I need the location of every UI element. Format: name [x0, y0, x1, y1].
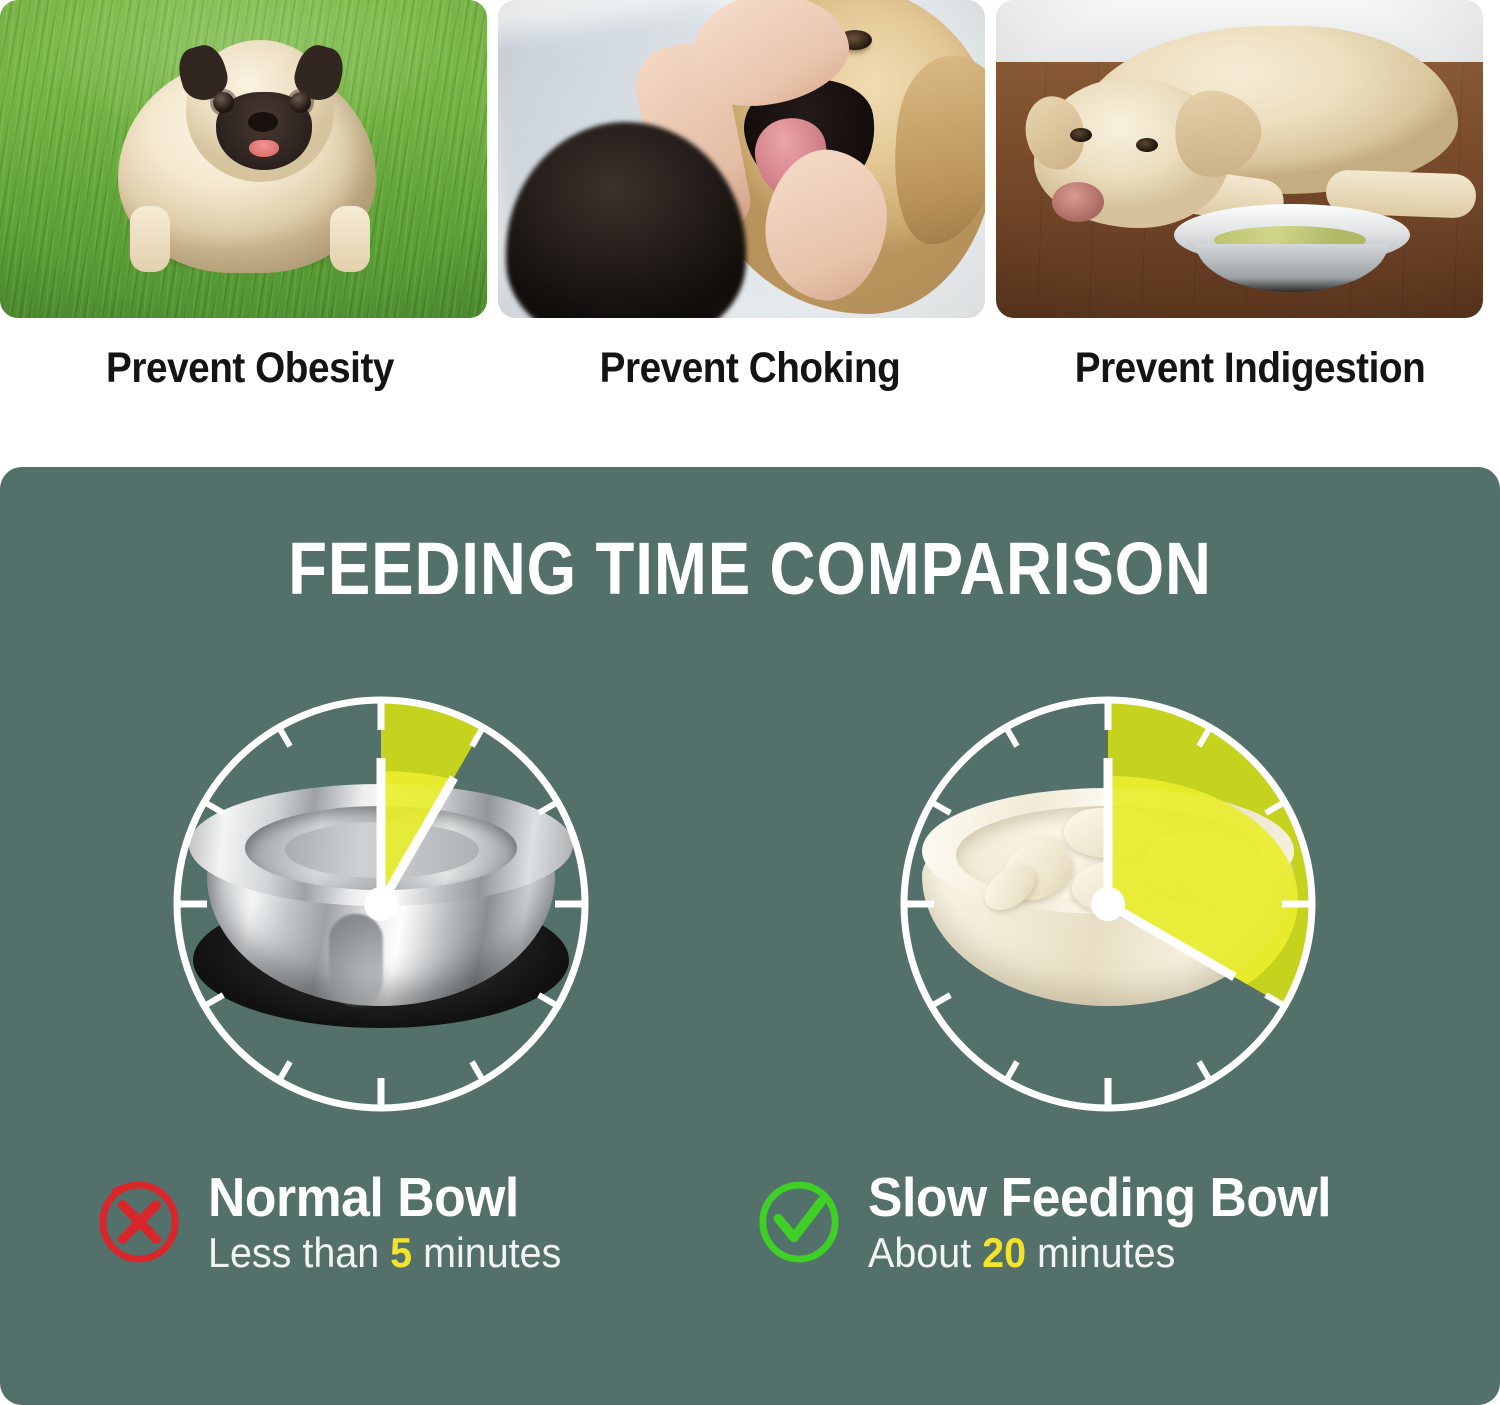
result-normal-subtitle: Less than 5 minutes [208, 1232, 561, 1275]
caption-prevent-obesity: Prevent Obesity [25, 344, 475, 424]
clock-center-hub [1091, 887, 1125, 921]
photo-card-prevent-indigestion [996, 0, 1483, 318]
clock-dial-normal-bowl [161, 692, 601, 1132]
steel-food-bowl-photo [1174, 204, 1410, 296]
clock-face-normal [161, 692, 601, 1132]
pug-tongue [249, 140, 279, 157]
clock-hand-elapsed [1108, 904, 1234, 977]
pug-nose [248, 112, 278, 132]
bowl-base [1196, 244, 1388, 292]
result-slow-subtitle: About 20 minutes [868, 1232, 1331, 1275]
photo-card-prevent-choking [498, 0, 985, 318]
photo-overweight-pug-on-grass [0, 0, 487, 318]
check-circle-icon [756, 1179, 842, 1265]
labrador-eye-left [1070, 128, 1092, 142]
result-slow-sub-prefix: About [868, 1229, 982, 1276]
result-normal-sub-prefix: Less than [208, 1229, 390, 1276]
pug-front-leg-left [130, 206, 170, 272]
feeding-time-comparison-panel: FEEDING TIME COMPARISON [0, 467, 1500, 1405]
caption-prevent-choking: Prevent Choking [525, 344, 975, 424]
photo-retriever-mouth-checked [498, 0, 985, 318]
result-slow-title: Slow Feeding Bowl [868, 1169, 1331, 1225]
photo-card-prevent-obesity [0, 0, 487, 318]
result-normal-bowl: Normal Bowl Less than 5 minutes [96, 1169, 584, 1275]
pug-front-leg-right [330, 206, 370, 272]
clock-face-slow [888, 692, 1328, 1132]
result-slow-feeding-bowl: Slow Feeding Bowl About 20 minutes [756, 1169, 1361, 1275]
clock-dial-slow-feeding-bowl [888, 692, 1328, 1132]
clock-center-hub [364, 887, 398, 921]
result-normal-sub-suffix: minutes [412, 1229, 561, 1276]
benefit-caption-row: Prevent Obesity Prevent Choking Prevent … [0, 344, 1500, 424]
pug-eye-right [290, 92, 311, 113]
result-normal-title: Normal Bowl [208, 1169, 561, 1225]
labrador-nose [1052, 182, 1104, 222]
result-slow-sub-value: 20 [982, 1229, 1026, 1276]
labrador-eye-right [1136, 138, 1158, 152]
benefit-photo-strip [0, 0, 1500, 320]
photo-labrador-beside-bowl [996, 0, 1483, 318]
cross-circle-icon [96, 1179, 182, 1265]
pug-eye-left [213, 92, 234, 113]
caption-prevent-indigestion: Prevent Indigestion [1025, 344, 1475, 424]
clock-hand-elapsed [381, 778, 454, 904]
result-normal-text: Normal Bowl Less than 5 minutes [208, 1169, 584, 1275]
result-slow-text: Slow Feeding Bowl About 20 minutes [868, 1169, 1361, 1275]
result-slow-sub-suffix: minutes [1026, 1229, 1175, 1276]
panel-title: FEEDING TIME COMPARISON [105, 526, 1395, 611]
result-normal-sub-value: 5 [390, 1229, 412, 1276]
